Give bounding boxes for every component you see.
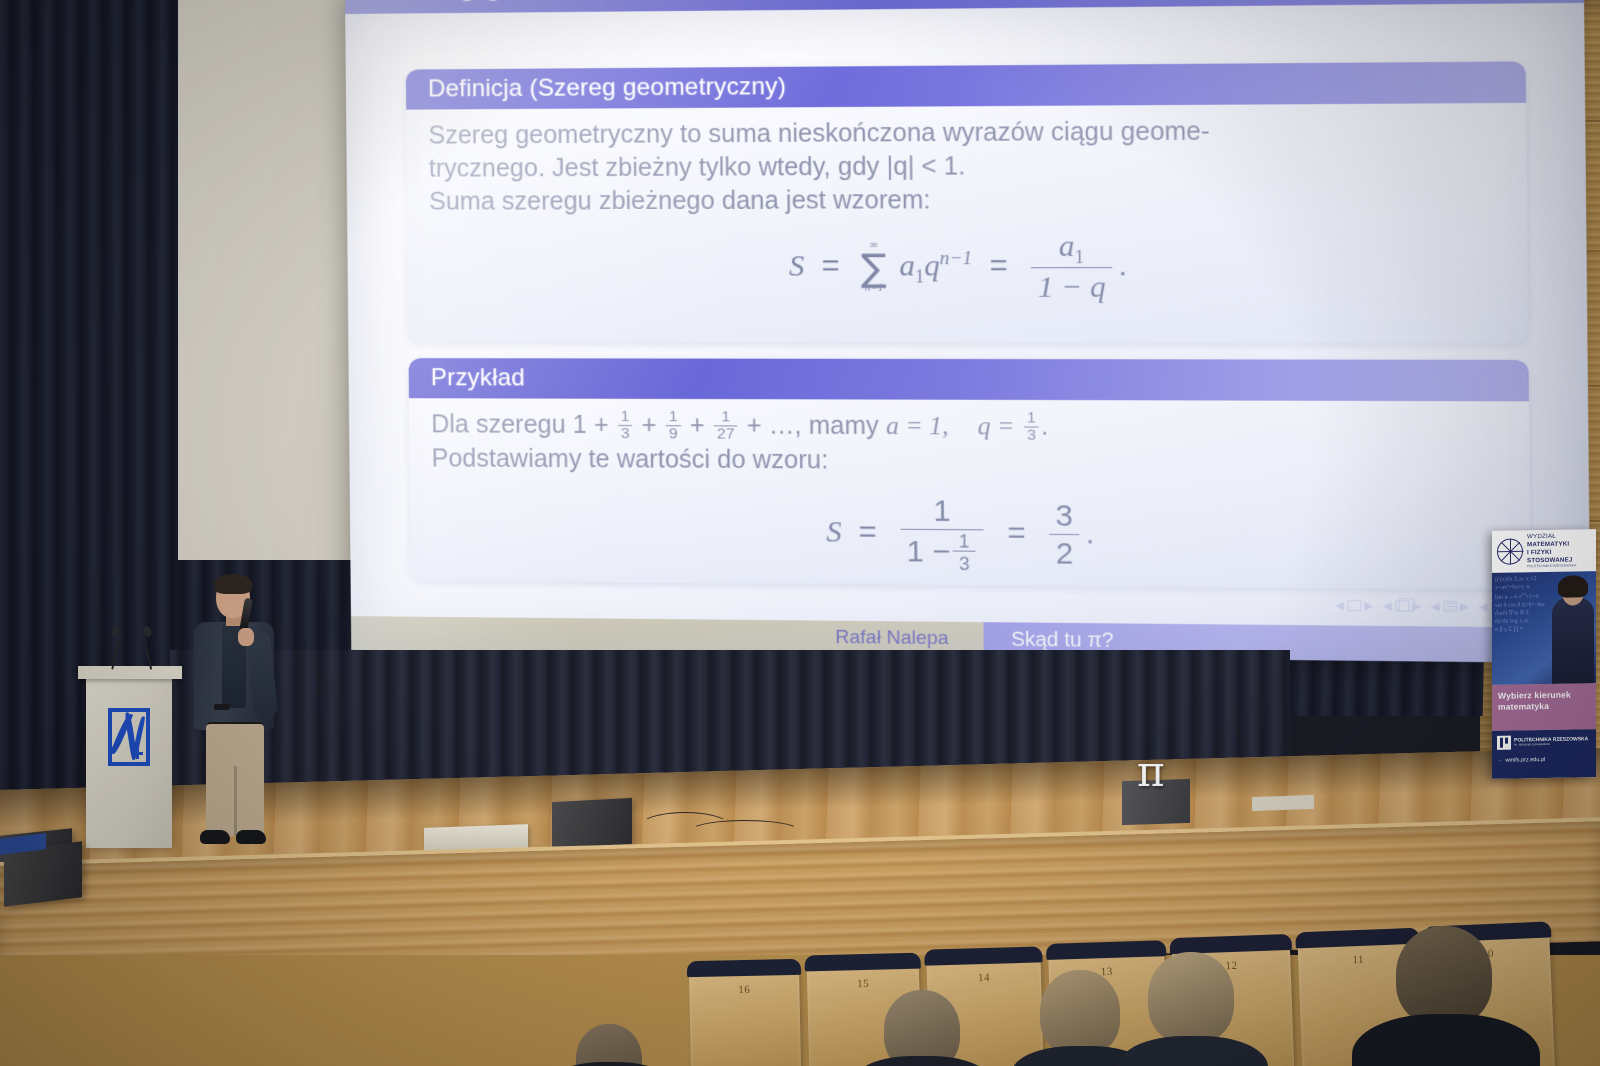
banner-person (1552, 597, 1594, 684)
photo-scene: Szereg geometryczny Definicja (Szereg ge… (0, 0, 1600, 1066)
definition-line-2: trycznego. Jest zbieżny tylko wtedy, gdy… (429, 148, 1501, 186)
ex-den-whole: 1 − (906, 535, 950, 569)
given-a: a = 1, (886, 413, 949, 441)
ex-den-frac: 13 (953, 531, 977, 574)
seat-number: 15 (807, 977, 919, 992)
faculty-line-3: I FIZYKI STOSOWANEJ (1527, 548, 1591, 565)
nav-slide-group[interactable]: ◀ ▶ (1335, 599, 1373, 613)
nav-prev-icon[interactable]: ◀ (1479, 600, 1488, 614)
nav-frame-group[interactable]: ◀ ▶ (1383, 599, 1421, 613)
university-mark-icon (1497, 736, 1511, 750)
ex-frac-den: 1 −13 (900, 529, 984, 575)
result-num: 3 (1049, 500, 1079, 535)
ex-frac-num: 1 (900, 494, 984, 529)
series-term-4: 127 (714, 409, 738, 443)
example-block-header: Przykład (409, 358, 1529, 401)
university-sub: im. Ignacego Łukasiewicza (1514, 742, 1588, 747)
audience-member-head (1396, 926, 1492, 1026)
banner-call-to-action: Wybierz kierunek matematyka (1492, 683, 1596, 731)
frame-stack-icon[interactable] (1395, 600, 1409, 611)
substituted-fraction: 1 1 −13 (900, 494, 985, 575)
example-line-1: Dla szeregu 1 + 13 + 19 + 127 + …, mamy … (431, 408, 1504, 447)
plus-1: + (594, 411, 609, 439)
presenter-shoe-right (236, 830, 266, 844)
nav-next-icon[interactable]: ▶ (1460, 600, 1469, 614)
presenter-shoe-left (200, 830, 230, 844)
banner-url-row: → wmifs.prz.edu.pl (1497, 756, 1591, 764)
prz-logo-icon (108, 708, 150, 766)
definition-line-1: Szereg geometryczny to suma nieskończona… (428, 113, 1500, 152)
rhs-num: a (1059, 229, 1075, 263)
series-term-2: 13 (618, 409, 633, 443)
audience-area: 16 15 14 13 12 11 10 (0, 955, 1600, 1066)
audience-member-shoulders (552, 1062, 668, 1066)
slide-icon[interactable] (1347, 600, 1361, 611)
nav-prev-icon[interactable]: ◀ (1383, 599, 1392, 613)
presenter-watch (214, 704, 230, 710)
university-name: POLITECHNIKA RZESZOWSKA im. Ignacego Łuk… (1514, 736, 1588, 747)
audience-member-head (1148, 952, 1234, 1044)
example-block-body: Dla szeregu 1 + 13 + 19 + 127 + …, mamy … (409, 398, 1531, 590)
banner-footer: POLITECHNIKA RZESZOWSKA im. Ignacego Łuk… (1492, 729, 1596, 779)
definition-block: Definicja (Szereg geometryczny) Szereg g… (406, 61, 1529, 343)
floor-equipment-box (1252, 795, 1314, 811)
pi-sculpture: π (1137, 752, 1165, 792)
summand-ratio: q (924, 249, 940, 283)
podium-top (78, 666, 182, 679)
series-term-1: 1 (573, 411, 587, 439)
banner-url: wmifs.prz.edu.pl (1506, 757, 1546, 764)
seat-number: 16 (689, 983, 799, 997)
rhs-num-sub: 1 (1074, 247, 1084, 267)
nav-prev-icon[interactable]: ◀ (1431, 600, 1440, 614)
eq-equals-2: = (981, 249, 1017, 283)
stage-cable (690, 820, 800, 842)
eq-period: . (1118, 248, 1127, 282)
definition-equation: S = ∞ ∑ n=1 a1qn−1 = a1 1 − q . (429, 228, 1502, 304)
presenter-hair (214, 574, 252, 594)
subsection-icon[interactable] (1443, 601, 1457, 613)
series-tail: + …, (747, 411, 802, 440)
audience-member-head (576, 1024, 642, 1066)
arrow-icon: → (1497, 758, 1503, 764)
seat-number: 14 (927, 970, 1041, 985)
university-logo-block: POLITECHNIKA RZESZOWSKA im. Ignacego Łuk… (1497, 734, 1591, 750)
presenter (188, 576, 280, 854)
definition-line-3: Suma szeregu zbieżnego dana jest wzorem: (429, 182, 1501, 219)
rollup-banner: WYDZIAŁ MATEMATYKI I FIZYKI STOSOWANEJ P… (1492, 529, 1596, 779)
series-term-3: 19 (666, 409, 681, 443)
given-q-value: 13 (1024, 410, 1040, 444)
definition-block-header: Definicja (Szereg geometryczny) (406, 61, 1526, 109)
presenter-leg-split (234, 766, 237, 836)
eq-lhs: S (789, 249, 805, 282)
summand-exponent: n−1 (940, 248, 973, 269)
nav-subsection-group[interactable]: ◀ ▶ (1431, 600, 1470, 614)
floor-monitor-speaker (552, 798, 632, 848)
cta-line-2: matematyka (1498, 701, 1590, 714)
definition-block-body: Szereg geometryczny to suma nieskończona… (406, 103, 1528, 321)
nav-prev-icon[interactable]: ◀ (1335, 599, 1344, 612)
presenter-hand (238, 628, 254, 646)
example-mid: mamy (809, 412, 879, 441)
banner-faculty-text: WYDZIAŁ MATEMATYKI I FIZYKI STOSOWANEJ P… (1527, 533, 1591, 569)
cross-icon (131, 747, 143, 759)
closed-form-fraction: a1 1 − q (1031, 229, 1112, 304)
example-prefix: Dla szeregu (431, 410, 566, 439)
audience-member-head (1040, 970, 1120, 1056)
result-den: 2 (1049, 534, 1079, 572)
plus-3: + (690, 411, 705, 439)
ex-eq-lhs: S (826, 515, 842, 549)
podium (86, 676, 172, 848)
sigma-icon: ∑ (861, 252, 887, 284)
plus-2: + (642, 411, 657, 439)
projection-screen: Szereg geometryczny Definicja (Szereg ge… (345, 0, 1591, 663)
example-block: Przykład Dla szeregu 1 + 13 + 19 + 127 +… (409, 358, 1531, 590)
example-line-2: Podstawiamy te wartości do wzoru: (431, 443, 1504, 482)
given-q-trail: . (1041, 412, 1049, 441)
ex-eq-equals: = (850, 516, 886, 550)
seat: 16 (689, 967, 801, 1066)
faculty-sub: POLITECHNIKA RZESZOWSKA (1527, 564, 1591, 569)
ex-eq-equals-2: = (999, 517, 1035, 551)
banner-photo: ∫ƒ(x)dx Σ aₙ π √2y=ax²+bx+c ∞lim n→∞ eiπ… (1492, 571, 1596, 685)
nav-next-icon[interactable]: ▶ (1364, 599, 1373, 612)
rhs-den: 1 − q (1031, 267, 1112, 304)
example-equation: S = 1 1 −13 = 3 2 . (432, 492, 1505, 580)
banner-header: WYDZIAŁ MATEMATYKI I FIZYKI STOSOWANEJ P… (1492, 529, 1596, 573)
result-fraction: 3 2 (1049, 500, 1080, 572)
eq-equals: = (813, 249, 849, 283)
ex-eq-period: . (1085, 517, 1094, 551)
faculty-emblem-icon (1497, 538, 1523, 564)
given-q-label: q = (977, 413, 1014, 441)
summation-operator: ∞ ∑ n=1 (861, 241, 887, 295)
summand-base: a (899, 249, 915, 283)
audience-member-head (884, 990, 960, 1066)
